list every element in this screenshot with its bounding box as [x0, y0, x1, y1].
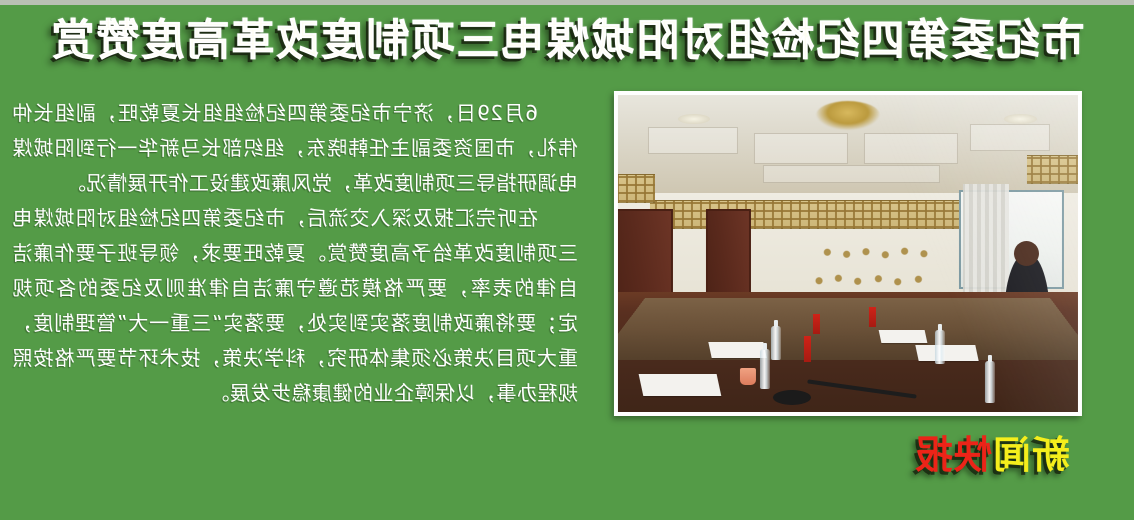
- news-photo-frame: [614, 91, 1082, 416]
- brand-logo-part-2: 快报: [914, 433, 992, 477]
- wall-lattice-right: [618, 174, 655, 203]
- document-paper: [879, 330, 928, 343]
- ceiling-panel: [754, 133, 848, 164]
- mirrored-composition: 市纪委第四纪检组对阳城煤电三项制度改革高度赞赏: [0, 0, 1134, 520]
- article-paragraph: 6月29日，济宁市纪委第四纪检组组长夏乾旺，副组长仲伟礼，市国资委副主任韩晓东，…: [12, 96, 578, 201]
- top-strip: [0, 0, 1134, 5]
- document-paper: [639, 374, 722, 396]
- ceiling-panel: [648, 127, 737, 154]
- attendee-head: [1014, 241, 1039, 266]
- table-flag: [869, 307, 876, 327]
- news-photo: [618, 95, 1078, 412]
- brand-logo: 新闻快报: [914, 431, 1070, 479]
- ceiling-lamp: [1004, 114, 1036, 124]
- water-bottle: [771, 326, 781, 360]
- ceiling-panel: [864, 133, 958, 164]
- ceiling-panel: [970, 124, 1050, 151]
- table-flag: [804, 336, 811, 362]
- article-body: 6月29日，济宁市纪委第四纪检组组长夏乾旺，副组长仲伟礼，市国资委副主任韩晓东，…: [12, 96, 578, 411]
- document-paper: [708, 342, 767, 358]
- desk-microphone-base: [773, 390, 811, 405]
- water-bottle: [760, 349, 770, 389]
- curtain: [963, 184, 1009, 298]
- ceiling-panel: [763, 165, 940, 183]
- chandelier-light: [816, 101, 880, 130]
- water-bottle: [985, 361, 995, 403]
- brand-logo-part-1: 新闻: [992, 433, 1070, 477]
- wall-calligraphy: [797, 241, 935, 292]
- news-poster: 市纪委第四纪检组对阳城煤电三项制度改革高度赞赏: [0, 0, 1134, 520]
- document-paper: [915, 345, 978, 361]
- page-title: 市纪委第四纪检组对阳城煤电三项制度改革高度赞赏: [0, 14, 1134, 68]
- table-flag: [813, 314, 820, 334]
- wall-lattice-center: [650, 200, 981, 229]
- paper-cup: [740, 368, 756, 385]
- water-bottle: [935, 330, 945, 364]
- conference-table-top: [618, 298, 1078, 360]
- article-paragraph: 在听完汇报及深入交流后，市纪委第四纪检组对阳城煤电三项制度改革给予高度赞赏。夏乾…: [12, 201, 578, 411]
- wall-lattice-left: [1027, 155, 1078, 184]
